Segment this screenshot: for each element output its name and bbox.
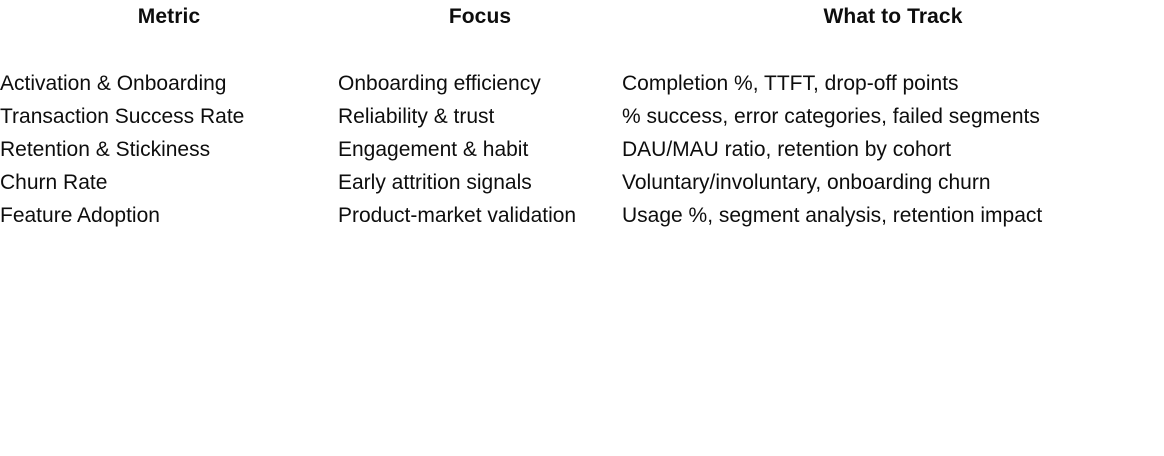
cell-focus-text: Engagement & habit: [338, 133, 622, 166]
page-root: Metric Focus What to Track Activation & …: [0, 0, 1164, 456]
cell-what-to-track: DAU/MAU ratio, retention by cohort: [622, 133, 1164, 166]
cell-metric: Transaction Success Rate: [0, 100, 338, 133]
table-row: Feature Adoption Product-market validati…: [0, 199, 1164, 232]
cell-focus: Onboarding efficiency: [338, 33, 622, 100]
cell-what-to-track: Voluntary/involuntary, onboarding churn: [622, 166, 1164, 199]
cell-metric: Activation & Onboarding: [0, 33, 338, 100]
cell-metric: Feature Adoption: [0, 199, 338, 232]
cell-focus-text: Early attrition signals: [338, 166, 622, 199]
cell-focus-text: Product-market validation: [338, 199, 622, 232]
cell-focus-text: Onboarding efficiency: [338, 67, 622, 100]
cell-what-to-track: Usage %, segment analysis, retention imp…: [622, 199, 1164, 232]
table-row: Retention & Stickiness Engagement & habi…: [0, 133, 1164, 166]
column-header-metric: Metric: [0, 0, 338, 33]
column-header-metric-label: Metric: [0, 0, 338, 33]
table-body: Activation & Onboarding Onboarding effic…: [0, 33, 1164, 232]
column-header-focus: Focus: [338, 0, 622, 33]
table-header-row: Metric Focus What to Track: [0, 0, 1164, 33]
cell-metric-text: Retention & Stickiness: [0, 133, 338, 166]
cell-what-to-track-text: Voluntary/involuntary, onboarding churn: [622, 166, 1164, 199]
column-header-focus-label: Focus: [338, 0, 622, 33]
cell-metric-text: Activation & Onboarding: [0, 67, 338, 100]
cell-focus: Product-market validation: [338, 199, 622, 232]
cell-metric-text: Transaction Success Rate: [0, 100, 338, 133]
cell-what-to-track-text: Usage %, segment analysis, retention imp…: [622, 199, 1164, 232]
table-row: Activation & Onboarding Onboarding effic…: [0, 33, 1164, 100]
cell-metric: Churn Rate: [0, 166, 338, 199]
cell-metric-text: Churn Rate: [0, 166, 338, 199]
cell-what-to-track: % success, error categories, failed segm…: [622, 100, 1164, 133]
cell-metric: Retention & Stickiness: [0, 133, 338, 166]
column-header-what-to-track-label: What to Track: [622, 0, 1164, 33]
cell-focus-text: Reliability & trust: [338, 100, 622, 133]
cell-focus: Reliability & trust: [338, 100, 622, 133]
metrics-table: Metric Focus What to Track Activation & …: [0, 0, 1164, 232]
table-row: Transaction Success Rate Reliability & t…: [0, 100, 1164, 133]
cell-what-to-track-text: % success, error categories, failed segm…: [622, 100, 1164, 133]
cell-what-to-track: Completion %, TTFT, drop-off points: [622, 33, 1164, 100]
table-row: Churn Rate Early attrition signals Volun…: [0, 166, 1164, 199]
cell-what-to-track-text: Completion %, TTFT, drop-off points: [622, 67, 1164, 100]
cell-what-to-track-text: DAU/MAU ratio, retention by cohort: [622, 133, 1164, 166]
cell-focus: Engagement & habit: [338, 133, 622, 166]
cell-focus: Early attrition signals: [338, 166, 622, 199]
table-header: Metric Focus What to Track: [0, 0, 1164, 33]
column-header-what-to-track: What to Track: [622, 0, 1164, 33]
cell-metric-text: Feature Adoption: [0, 199, 338, 232]
